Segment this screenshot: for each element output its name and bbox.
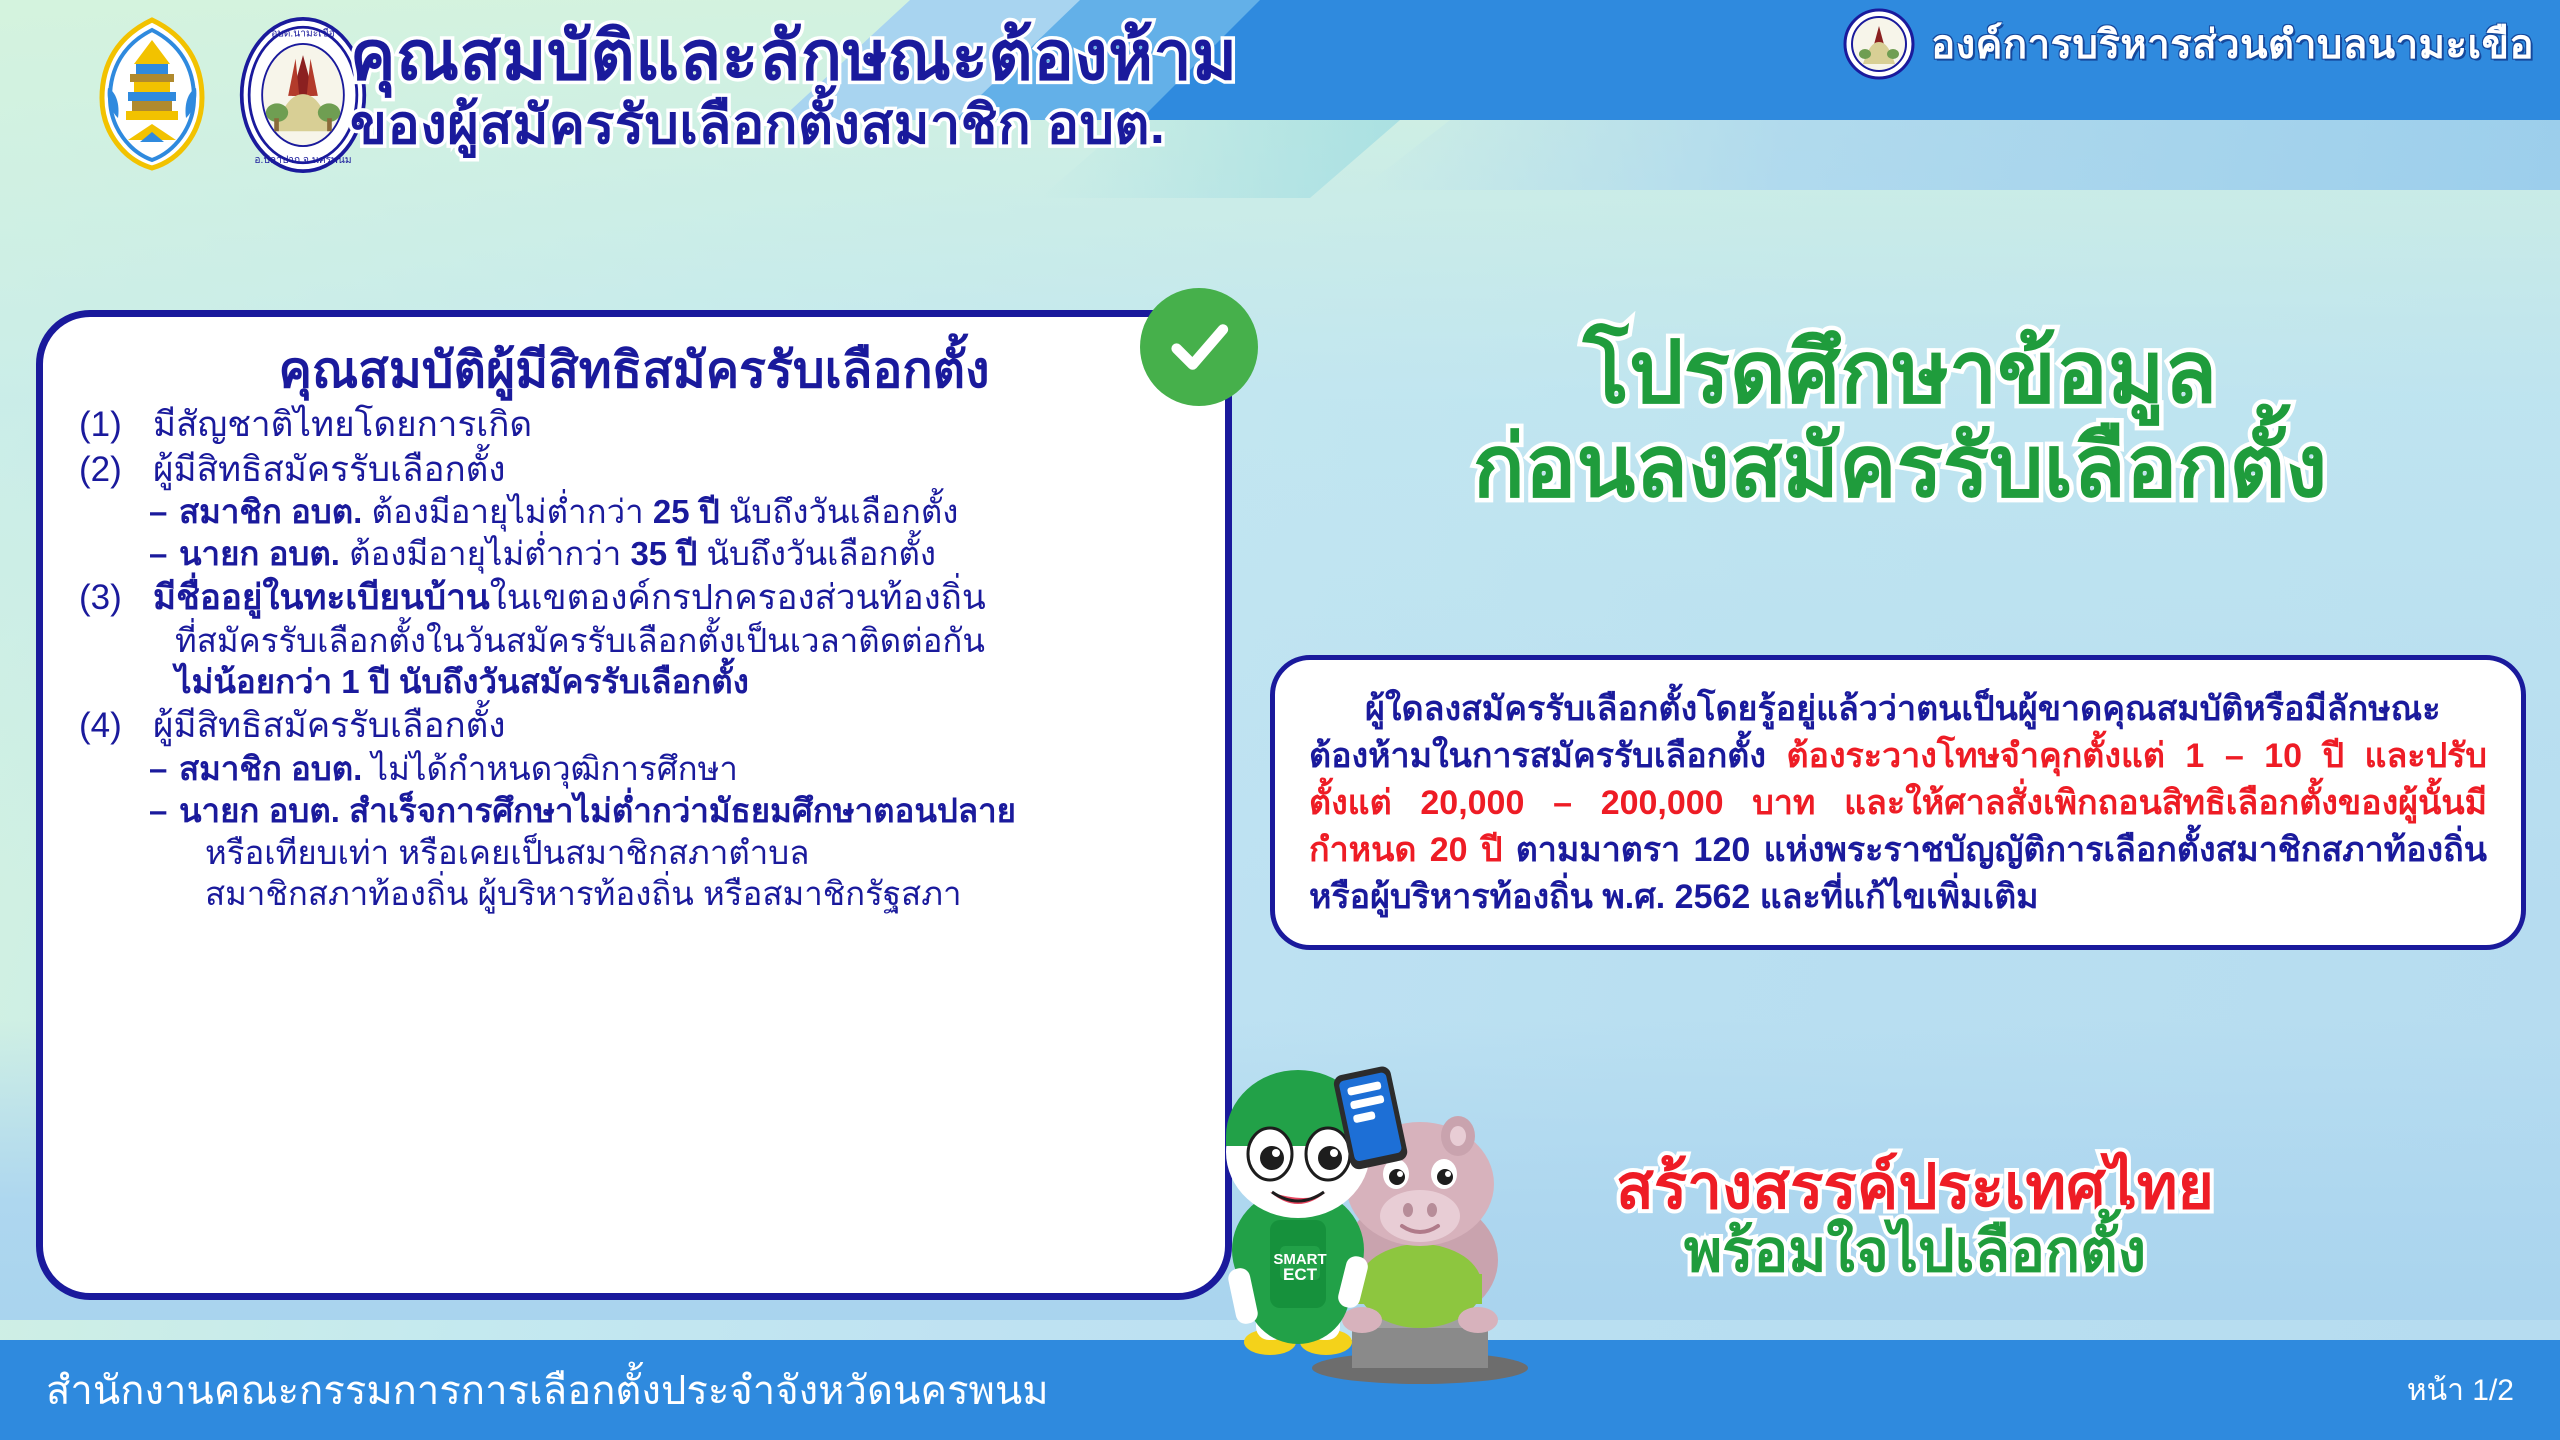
sub-item-rest-a: ไม่ได้กำหนดวุฒิการศึกษา (362, 750, 738, 787)
item-rest: ในเขตองค์กรปกครองส่วนท้องถิ่น (490, 578, 986, 617)
sub-item-rest-a: ต้องมีอายุไม่ต่ำกว่า (362, 493, 653, 530)
infographic-canvas: อบต.นามะเขือ อ.ปลาปาก จ.นครพนม คุณสมบัติ… (0, 0, 2560, 1440)
continuation-line: สมาชิกสภาท้องถิ่น ผู้บริหารท้องถิ่น หรือ… (205, 873, 1189, 915)
sub-list-item: – นายก อบต. ต้องมีอายุไม่ต่ำกว่า 35 ปี น… (149, 534, 1189, 575)
sub-item-role: สมาชิก อบต. (179, 493, 362, 530)
svg-text:อบต.นามะเขือ: อบต.นามะเขือ (271, 27, 335, 40)
item-number: (4) (79, 705, 153, 748)
green-headline-line-1: โปรดศึกษาข้อมูล (1255, 330, 2545, 418)
dash-bullet-icon: – (149, 492, 179, 533)
qualifications-heading: คุณสมบัติผู้มีสิทธิสมัครรับเลือกตั้ง (79, 343, 1189, 398)
smart-ect-mascot-icon: SMART ECT (1120, 1024, 1600, 1384)
org-seal-icon (1843, 8, 1915, 80)
green-headline: โปรดศึกษาข้อมูล ก่อนลงสมัครรับเลือกตั้ง (1255, 330, 2545, 511)
svg-text:ECT: ECT (1283, 1265, 1318, 1284)
sub-list-item: – สมาชิก อบต. ต้องมีอายุไม่ต่ำกว่า 25 ปี… (149, 492, 1189, 533)
organization-badge: องค์การบริหารส่วนตำบลนามะเขือ (1843, 8, 2534, 80)
item-bold-lead: มีชื่ออยู่ในทะเบียนบ้าน (153, 578, 490, 617)
organization-name: องค์การบริหารส่วนตำบลนามะเขือ (1931, 12, 2534, 76)
sub-item-rest-b: นับถึงวันเลือกตั้ง (720, 493, 959, 530)
sub-item-rest-a: ต้องมีอายุไม่ต่ำกว่า (340, 535, 631, 572)
sub-list-item: – นายก อบต. สำเร็จการศึกษาไม่ต่ำกว่ามัธย… (149, 791, 1189, 832)
obt-namakhuea-seal-icon: อบต.นามะเขือ อ.ปลาปาก จ.นครพนม (238, 14, 366, 174)
qualifications-list: (1) มีสัญชาติไทยโดยการเกิด (2) ผู้มีสิทธ… (79, 404, 1189, 915)
item-text: ผู้มีสิทธิสมัครรับเลือกตั้ง (153, 705, 1189, 748)
penalty-warning-box: ผู้ใดลงสมัครรับเลือกตั้งโดยรู้อยู่แล้วว่… (1270, 655, 2526, 950)
item-number: (3) (79, 577, 153, 620)
footer-office-name: สำนักงานคณะกรรมการการเลือกตั้งประจำจังหว… (46, 1358, 1049, 1422)
title-line-2: ของผู้สมัครรับเลือกตั้งสมาชิก อบต. (350, 98, 1590, 152)
svg-text:อ.ปลาปาก จ.นครพนม: อ.ปลาปาก จ.นครพนม (254, 155, 351, 166)
sub-item-text: นายก อบต. ต้องมีอายุไม่ต่ำกว่า 35 ปี นับ… (179, 534, 1189, 575)
header-logos: อบต.นามะเขือ อ.ปลาปาก จ.นครพนม (88, 14, 366, 174)
item-text: ผู้มีสิทธิสมัครรับเลือกตั้ง (153, 449, 1189, 492)
green-headline-line-2: ก่อนลงสมัครรับเลือกตั้ง (1255, 424, 2545, 512)
continuation-bold: ไม่น้อยกว่า 1 ปี นับถึงวันสมัครรับเลือกต… (175, 663, 749, 700)
check-mark-icon (1140, 288, 1258, 406)
sub-item-rest-b: นับถึงวันเลือกตั้ง (697, 535, 936, 572)
list-item: (1) มีสัญชาติไทยโดยการเกิด (79, 404, 1189, 447)
continuation-line: หรือเทียบเท่า หรือเคยเป็นสมาชิกสภาตำบล (205, 832, 1189, 874)
sub-item-age: 25 ปี (653, 493, 720, 530)
dash-bullet-icon: – (149, 791, 179, 832)
sub-item-text: สมาชิก อบต. ต้องมีอายุไม่ต่ำกว่า 25 ปี น… (179, 492, 1189, 533)
item-number: (2) (79, 449, 153, 492)
ect-seal-icon (88, 14, 216, 174)
item-text: มีชื่ออยู่ในทะเบียนบ้านในเขตองค์กรปกครอง… (153, 577, 1189, 620)
sub-list-item: – สมาชิก อบต. ไม่ได้กำหนดวุฒิการศึกษา (149, 749, 1189, 790)
list-item: (3) มีชื่ออยู่ในทะเบียนบ้านในเขตองค์กรปก… (79, 577, 1189, 620)
page-title: คุณสมบัติและลักษณะต้องห้าม ของผู้สมัครรั… (350, 22, 1590, 152)
footer-page-number: หน้า 1/2 (2407, 1367, 2514, 1414)
sub-item-age: 35 ปี (630, 535, 697, 572)
title-line-1: คุณสมบัติและลักษณะต้องห้าม (350, 22, 1590, 90)
sub-item-role: นายก อบต. สำเร็จการศึกษาไม่ต่ำกว่ามัธยมศ… (179, 792, 1016, 829)
penalty-warning-text: ผู้ใดลงสมัครรับเลือกตั้งโดยรู้อยู่แล้วว่… (1309, 686, 2487, 921)
dash-bullet-icon: – (149, 534, 179, 575)
continuation-line: ที่สมัครรับเลือกตั้งในวันสมัครรับเลือกตั… (175, 620, 1189, 662)
sub-item-role: สมาชิก อบต. (179, 750, 362, 787)
dash-bullet-icon: – (149, 749, 179, 790)
qualifications-card: คุณสมบัติผู้มีสิทธิสมัครรับเลือกตั้ง (1)… (36, 310, 1232, 1300)
item-number: (1) (79, 404, 153, 447)
item-text: มีสัญชาติไทยโดยการเกิด (153, 404, 1189, 447)
continuation-line: ไม่น้อยกว่า 1 ปี นับถึงวันสมัครรับเลือกต… (175, 661, 1189, 703)
sub-item-text: สมาชิก อบต. ไม่ได้กำหนดวุฒิการศึกษา (179, 749, 1189, 790)
list-item: (2) ผู้มีสิทธิสมัครรับเลือกตั้ง (79, 449, 1189, 492)
list-item: (4) ผู้มีสิทธิสมัครรับเลือกตั้ง (79, 705, 1189, 748)
sub-item-role: นายก อบต. (179, 535, 340, 572)
sub-item-text: นายก อบต. สำเร็จการศึกษาไม่ต่ำกว่ามัธยมศ… (179, 791, 1189, 832)
